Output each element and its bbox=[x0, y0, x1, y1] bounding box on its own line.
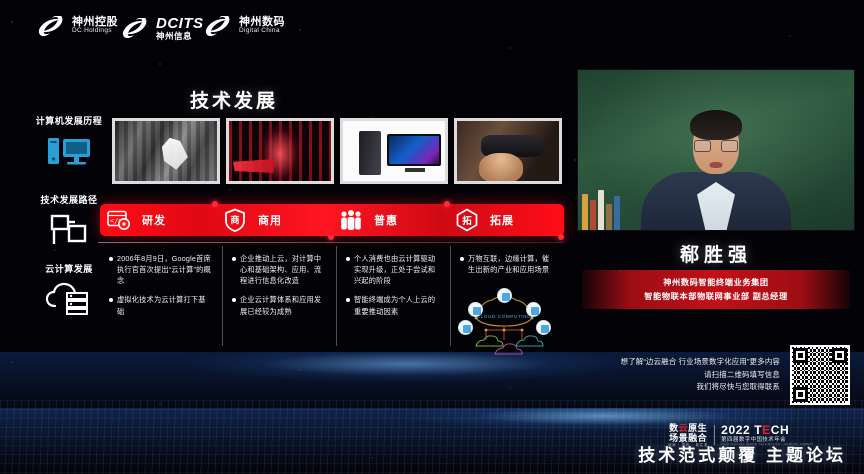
speaker-name: 郗胜强 bbox=[568, 240, 864, 267]
cloud-node-server bbox=[458, 320, 473, 335]
pathway-marker-dot bbox=[558, 234, 564, 240]
logo-dc-holdings: 神州控股 DC Holdings bbox=[36, 16, 118, 36]
cloud-computing-diagram: CLOUD COMPUTING bbox=[446, 274, 562, 364]
bullet-dot-icon bbox=[109, 298, 113, 302]
bullet-dot-icon bbox=[232, 298, 236, 302]
qr-finder-icon bbox=[793, 348, 808, 363]
logo-en-label: DC Holdings bbox=[72, 28, 118, 35]
cloud-node-security bbox=[497, 288, 512, 303]
monitor-stand-shape bbox=[405, 168, 425, 172]
qr-finder-icon bbox=[832, 348, 847, 363]
svg-text:商: 商 bbox=[230, 214, 239, 225]
pathway-step-commercial[interactable]: 商 商用 bbox=[216, 204, 332, 236]
bullet-item: 万物互联，边缘计算，催生出新的产业和应用场景 bbox=[460, 253, 555, 275]
historic-computer-photo bbox=[112, 118, 220, 184]
slide-stage: 神州控股 DC Holdings DCITS 神州信息 神州数码 Digital… bbox=[0, 0, 864, 474]
speaker-video-feed[interactable] bbox=[578, 70, 854, 230]
bullet-text: 企业云计算体系和应用发展已经较为成熟 bbox=[240, 294, 327, 316]
forum-title: 技术范式颠覆 主题论坛 bbox=[638, 441, 846, 466]
event-brand-main: 2022 TECH bbox=[721, 424, 813, 437]
qr-text-line-2: 请扫描二维码填写信息 bbox=[582, 369, 780, 382]
desktop-pc-monitor-photo bbox=[340, 118, 448, 184]
swoosh-icon bbox=[36, 16, 66, 36]
cloud-node-database bbox=[536, 320, 551, 335]
footer-bar: 数云原生 场景融合 创新 · 重构 · 新生态 2022 TECH 第四届数字中… bbox=[0, 416, 864, 474]
bullet-text: 个人消费也由云计算驱动实现升级，正处于尝试和兴起的阶段 bbox=[354, 253, 441, 286]
logo-text: 神州控股 DC Holdings bbox=[72, 17, 118, 35]
pathway-marker-dot bbox=[444, 201, 450, 207]
pathway-step-label: 普惠 bbox=[374, 212, 398, 228]
qr-finder-icon bbox=[793, 387, 808, 402]
pathway-step-expand[interactable]: 拓 拓展 bbox=[448, 204, 564, 236]
row-label-computer-history: 计算机发展历程 bbox=[26, 114, 112, 168]
bullet-column-2: 企业推动上云，对计算中心和基础架构、应用、流程进行信息化改造 企业云计算体系和应… bbox=[222, 246, 336, 346]
pathway-step-label: 拓展 bbox=[490, 212, 514, 228]
pathway-marker-dot bbox=[212, 201, 218, 207]
cloud-node-applications bbox=[526, 302, 541, 317]
logo-cn-label: 神州信息 bbox=[156, 32, 204, 41]
people-group-icon bbox=[338, 208, 364, 232]
bullet-dot-icon bbox=[232, 257, 236, 261]
speaker-org-line-1: 神州数码智能终端业务集团 bbox=[586, 276, 846, 290]
bullet-column-3: 个人消费也由云计算驱动实现升级，正处于尝试和兴起的阶段 智能终端成为个人上云的重… bbox=[336, 246, 450, 346]
bullet-dot-icon bbox=[460, 257, 464, 261]
pathway-step-label: 商用 bbox=[258, 212, 282, 228]
speaker-panel: 郗胜强 神州数码智能终端业务集团 智能物联本部物联网事业部 副总经理 想了解“边… bbox=[568, 56, 864, 416]
qr-instruction-text: 想了解“边云融合 行业场景数字化应用”更多内容 请扫描二维码填写信息 我们将尽快… bbox=[582, 356, 780, 395]
hexagon-tuo-icon: 拓 bbox=[454, 208, 480, 232]
slide-title: 技术发展 bbox=[190, 86, 278, 113]
qr-text-line-3: 我们将尽快与您取得联系 bbox=[582, 381, 780, 394]
bullet-item: 企业云计算体系和应用发展已经较为成熟 bbox=[232, 294, 327, 316]
monitor-shape bbox=[387, 134, 441, 166]
logo-brand-label: DCITS bbox=[156, 16, 204, 32]
bullet-item: 智能终端成为个人上云的重要推动因素 bbox=[346, 294, 441, 316]
bullet-text: 智能终端成为个人上云的重要推动因素 bbox=[354, 294, 441, 316]
speaker-org-line-2: 智能物联本部物联网事业部 副总经理 bbox=[586, 290, 846, 304]
speaker-hair bbox=[690, 110, 742, 140]
bullet-text: 企业推动上云，对计算中心和基础架构、应用、流程进行信息化改造 bbox=[240, 253, 327, 286]
bullet-item: 企业推动上云，对计算中心和基础架构、应用、流程进行信息化改造 bbox=[232, 253, 327, 286]
bullet-item: 个人消费也由云计算驱动实现升级，正处于尝试和兴起的阶段 bbox=[346, 253, 441, 286]
logo-dcits: DCITS 神州信息 bbox=[120, 16, 204, 41]
bookshelf-books bbox=[582, 188, 624, 230]
speaker-title-banner: 神州数码智能终端业务集团 智能物联本部物联网事业部 副总经理 bbox=[582, 270, 850, 309]
bullet-column-1: 2006年8月9日，Google首席执行官首次提出“云计算”的概念 虚拟化技术为… bbox=[100, 246, 222, 346]
swoosh-icon bbox=[203, 16, 233, 36]
cloud-node-storage bbox=[468, 302, 483, 317]
qr-code[interactable] bbox=[790, 345, 850, 405]
photo-strip bbox=[112, 118, 564, 184]
row-label-text: 计算机发展历程 bbox=[26, 114, 112, 127]
swoosh-icon bbox=[120, 18, 150, 38]
bullet-dot-icon bbox=[109, 257, 113, 261]
bullet-item: 虚拟化技术为云计算打下基础 bbox=[109, 294, 213, 316]
glasses-icon bbox=[694, 140, 738, 152]
svg-text:拓: 拓 bbox=[462, 215, 472, 227]
bullet-item: 2006年8月9日，Google首席执行官首次提出“云计算”的概念 bbox=[109, 253, 213, 286]
code-gear-icon: </> bbox=[106, 208, 132, 232]
bullet-dot-icon bbox=[346, 298, 350, 302]
qr-code-pattern bbox=[792, 347, 848, 403]
top-logo-bar: 神州控股 DC Holdings DCITS 神州信息 神州数码 Digital… bbox=[0, 0, 864, 52]
logo-digital-china: 神州数码 Digital China bbox=[203, 16, 285, 36]
pathway-step-inclusive[interactable]: 普惠 bbox=[332, 204, 448, 236]
qr-text-line-1: 想了解“边云融合 行业场景数字化应用”更多内容 bbox=[582, 356, 780, 369]
speaker-mouth bbox=[710, 162, 723, 168]
cloud-center-node: CLOUD COMPUTING bbox=[476, 312, 532, 332]
pathway-step-rd[interactable]: </> 研发 bbox=[100, 204, 216, 236]
pc-tower-shape bbox=[359, 131, 381, 175]
bullet-text: 万物互联，边缘计算，催生出新的产业和应用场景 bbox=[468, 253, 555, 275]
datacenter-tianhe-photo bbox=[226, 118, 334, 184]
logo-en-label: Digital China bbox=[239, 28, 285, 35]
pathway-step-label: 研发 bbox=[142, 212, 166, 228]
cloud-center-label: CLOUD COMPUTING bbox=[476, 314, 532, 321]
vr-headset-user-photo bbox=[454, 118, 562, 184]
bullet-dot-icon bbox=[346, 257, 350, 261]
event-slogan-line-1: 数云原生 bbox=[668, 423, 708, 433]
slide-content-area: 技术发展 计算机发展历程 技术发展路径 bbox=[0, 56, 568, 356]
pathway-marker-dot bbox=[328, 234, 334, 240]
bullet-text: 2006年8月9日，Google首席执行官首次提出“云计算”的概念 bbox=[117, 253, 213, 286]
technology-pathway-bar: </> 研发 商 商用 bbox=[100, 204, 564, 236]
bullet-text: 虚拟化技术为云计算打下基础 bbox=[117, 294, 213, 316]
logo-text: 神州数码 Digital China bbox=[239, 17, 285, 35]
logo-text: DCITS 神州信息 bbox=[156, 16, 204, 41]
shield-shang-icon: 商 bbox=[222, 208, 248, 232]
desktop-computer-icon bbox=[26, 134, 112, 168]
qr-callout: 想了解“边云融合 行业场景数字化应用”更多内容 请扫描二维码填写信息 我们将尽快… bbox=[582, 344, 850, 406]
